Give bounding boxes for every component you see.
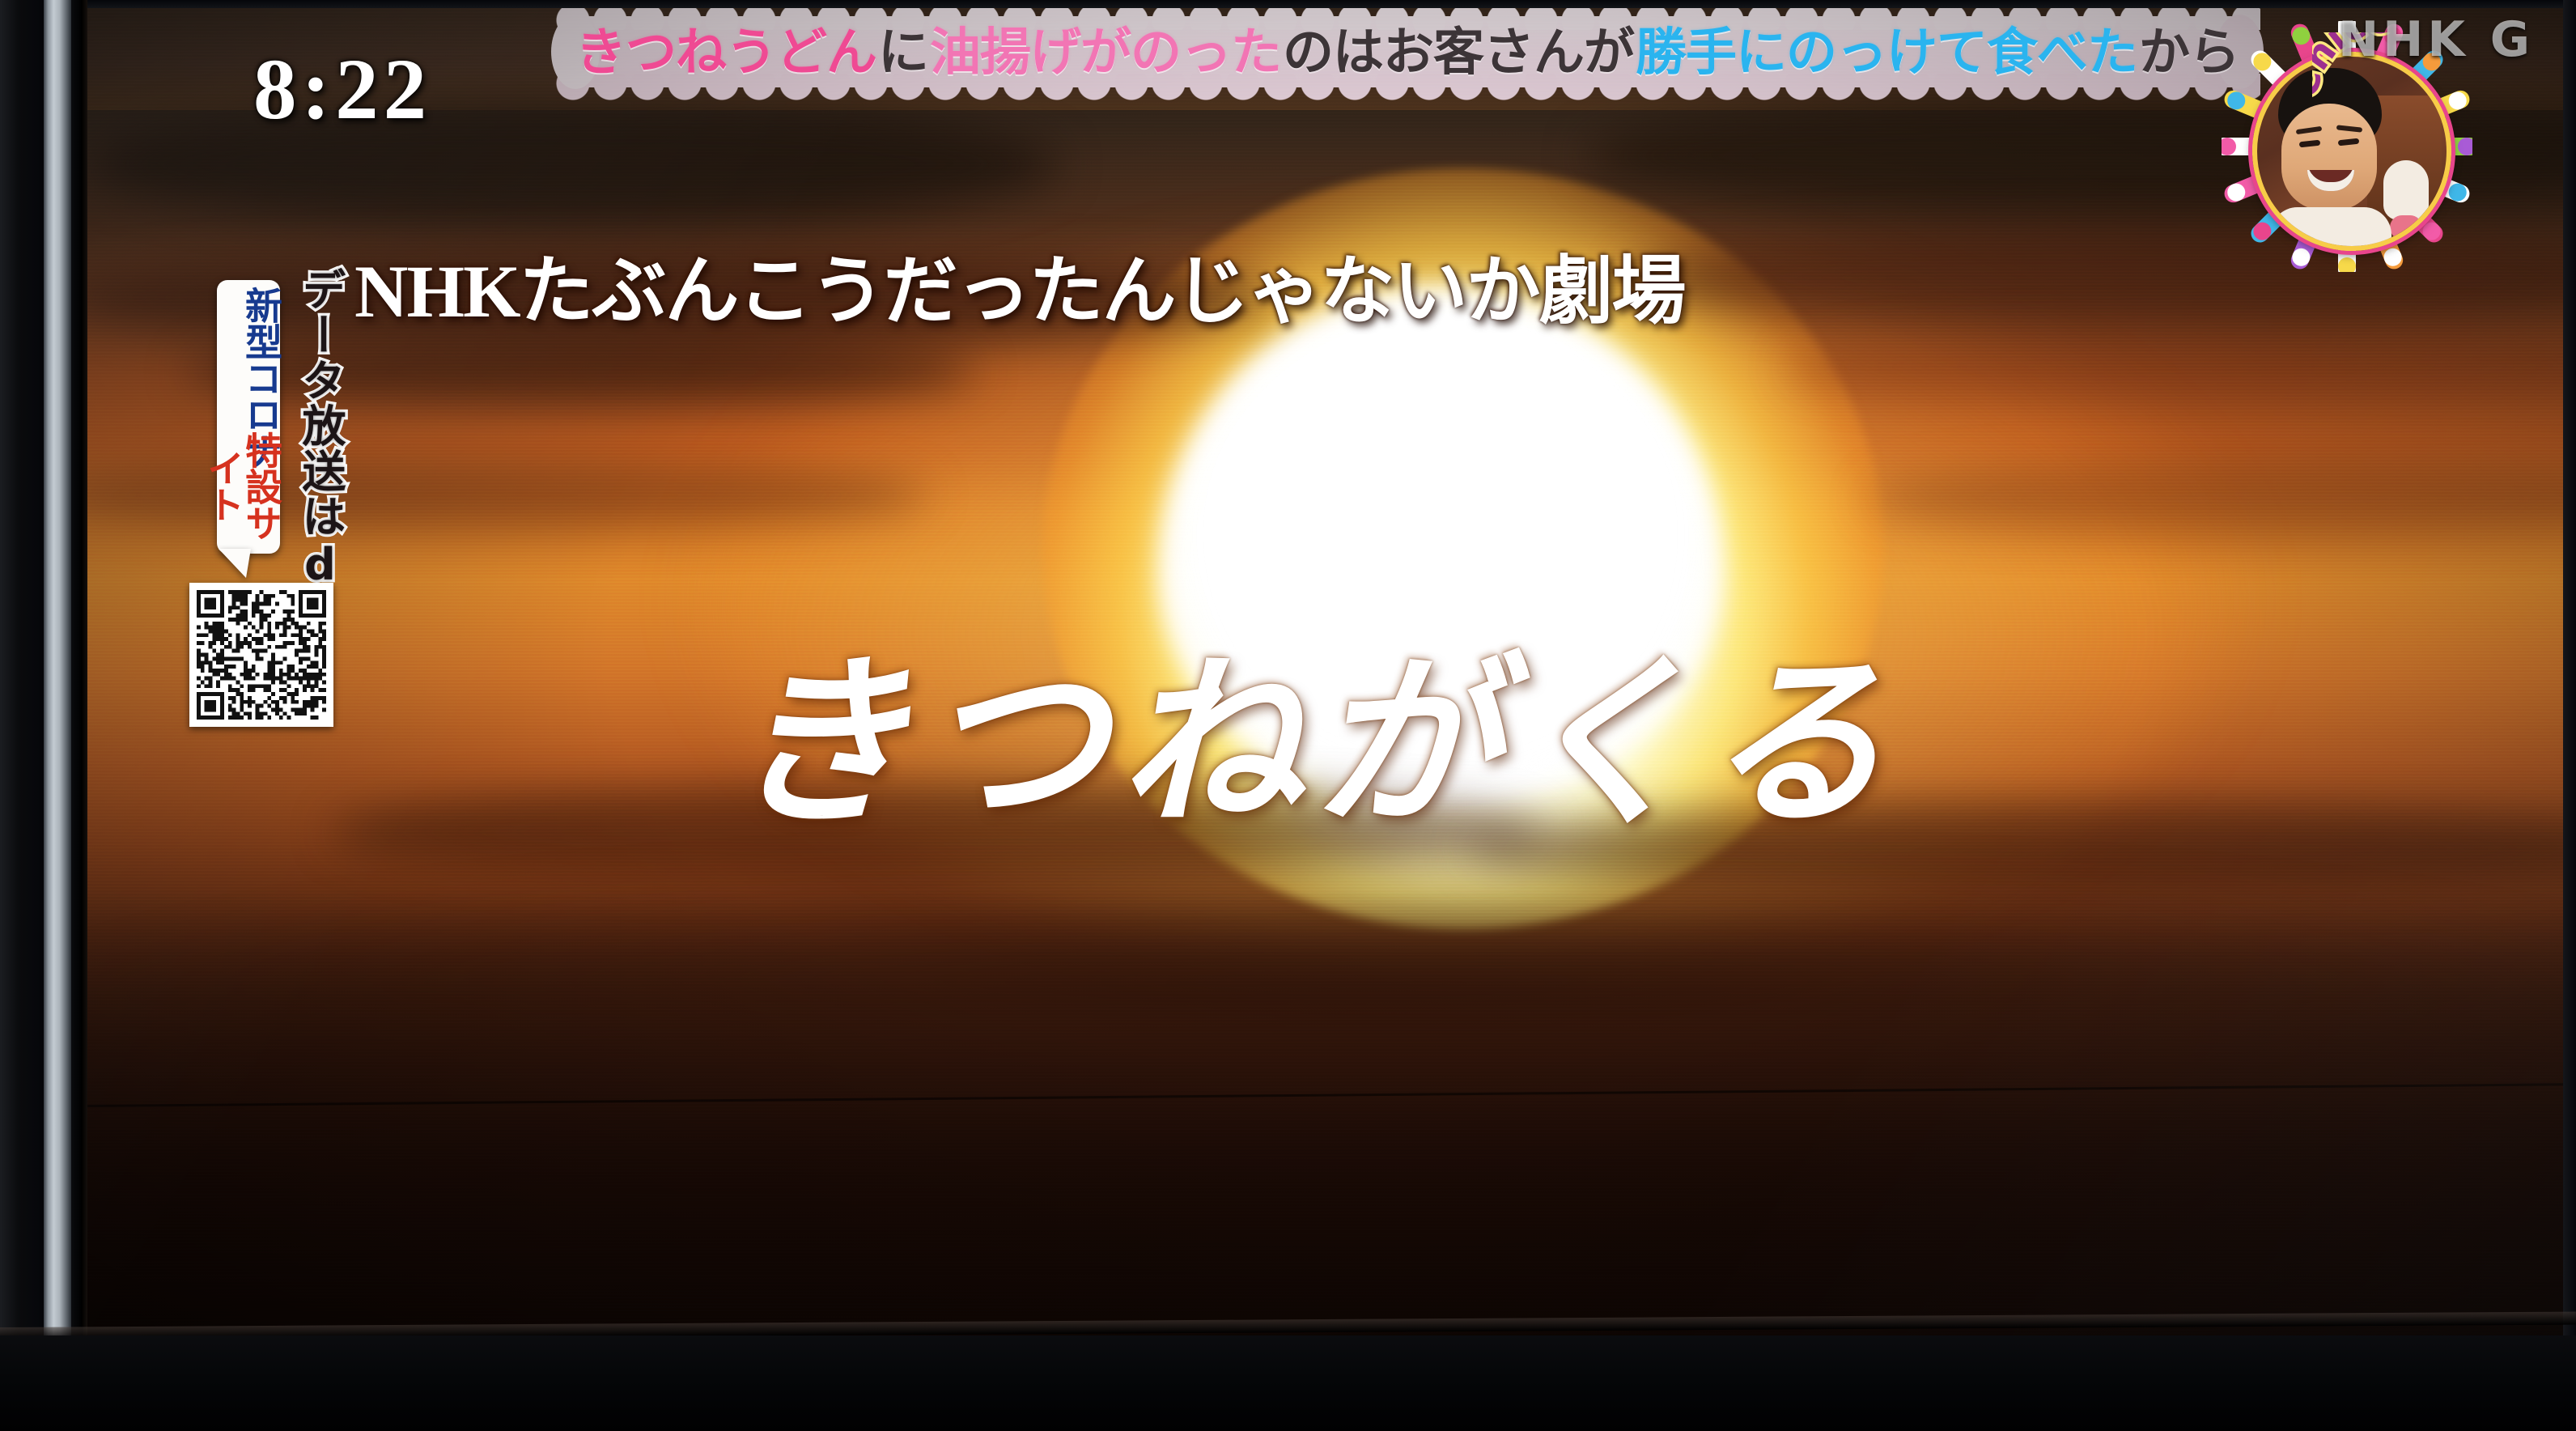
main-caption: きつねがくる [727,593,1898,860]
banner-segment: のはお客さんが [1282,27,1635,78]
tv-bezel-top [0,0,2576,8]
tv-screen: 8:22 NHKたぶんこうだったんじゃないか劇場 きつねがくる きつねうどんに油… [87,6,2563,1344]
data-broadcast-label: データ放送はd [298,267,342,592]
bubble-tail [219,549,251,578]
presenter-shirt [2270,207,2391,251]
bug-photo-circle [2252,52,2451,251]
bug-background-shape [2390,215,2422,240]
program-title: NHKたぶんこうだったんじゃないか劇場 [354,231,1685,338]
cloud-streak [87,104,1059,225]
tv-bezel-left-gap [71,0,87,1431]
banner-segment: きつねうどん [575,27,877,78]
data-broadcast-overlay: データ放送はd 新型コロナ 特設サイト [183,264,353,790]
tv-bezel-right [2563,0,2576,1431]
corona-site-bubble[interactable]: 新型コロナ 特設サイト [217,280,280,554]
banner-segment: 油揚げがのった [929,27,1282,78]
qr-code-canvas [197,590,326,720]
banner-segment: 勝手にのっけて食べた [1635,27,2138,78]
presenter-face [2281,104,2377,210]
channel-watermark: NHK G [2338,11,2534,68]
bug-background-shape [2383,160,2429,220]
subtitle-banner: きつねうどんに油揚げがのったのはお客さんが勝手にのっけて食べたから [554,11,2260,92]
banner-text: きつねうどんに油揚げがのったのはお客さんが勝手にのっけて食べたから [554,11,2260,92]
corona-bubble-line-2: 特設サイト [217,418,280,554]
dark-foreground [87,890,2563,1344]
qr-code[interactable] [189,583,333,727]
tv-photograph: 8:22 NHKたぶんこうだったんじゃないか劇場 きつねがくる きつねうどんに油… [0,0,2576,1431]
banner-segment: に [877,27,929,78]
tv-bezel-bottom [0,1335,2576,1431]
on-screen-clock: 8:22 [253,40,431,140]
tv-bezel-left-outer [0,0,47,1431]
tv-bezel-left-chrome [44,0,71,1431]
